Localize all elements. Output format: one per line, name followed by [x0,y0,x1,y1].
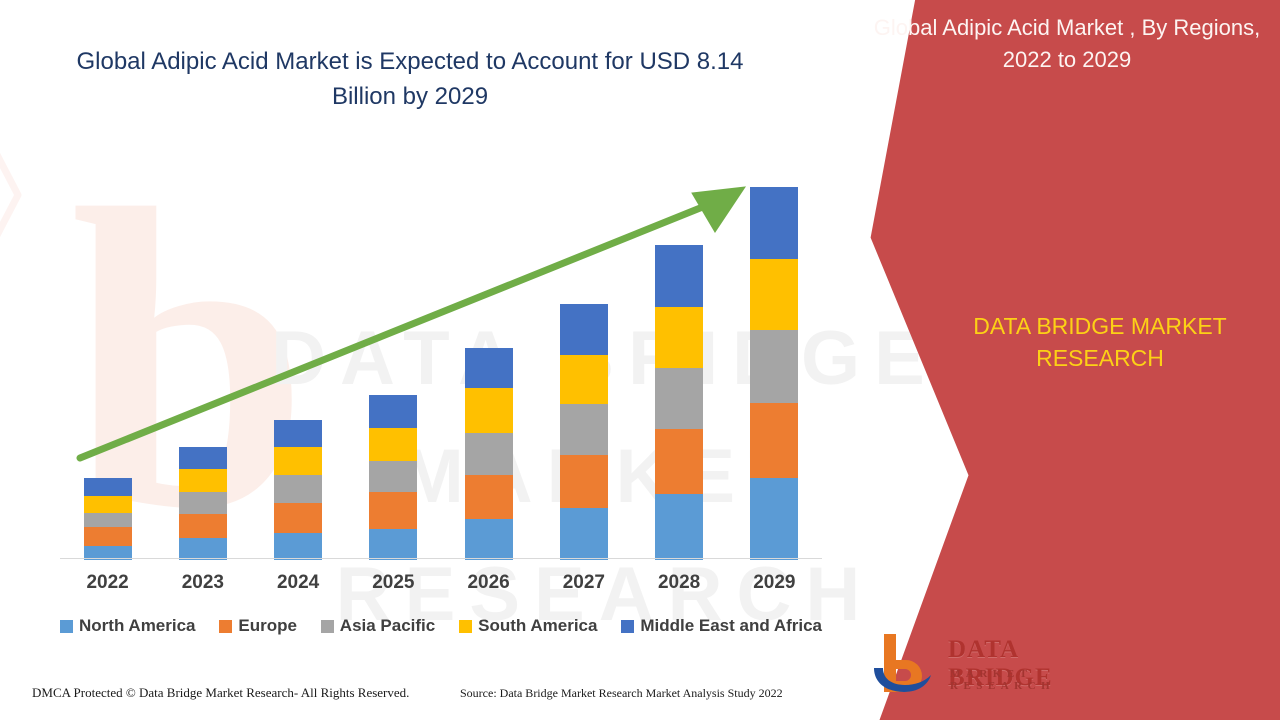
legend-label: South America [478,616,597,636]
legend-label: Europe [238,616,297,636]
bar-segment [750,187,798,259]
bar-segment [84,513,132,527]
bar-segment [655,429,703,494]
bar-column [274,420,322,560]
legend-label: Asia Pacific [340,616,435,636]
bar-segment [274,420,322,447]
legend-label: North America [79,616,196,636]
x-axis-label: 2023 [155,572,251,594]
x-axis-label: 2028 [631,572,727,594]
legend-item-south-america[interactable]: South America [459,616,597,636]
bar-segment [179,492,227,514]
bar-segment [465,519,513,560]
bar-segment [179,469,227,493]
bar-segment [655,307,703,368]
x-axis-label: 2024 [250,572,346,594]
bar-segment [560,304,608,356]
bar-segment [84,496,132,513]
bar-segment [750,403,798,479]
legend-swatch-icon [459,620,472,633]
chart-panel: b DATA BRIDGE MARKET RESEARCH Global Adi… [0,0,975,720]
bar-segment [274,503,322,533]
bar-column [560,303,608,560]
bar-segment [465,433,513,475]
legend-item-asia-pacific[interactable]: Asia Pacific [321,616,435,636]
bar-segment [655,494,703,560]
bar-segment [369,461,417,492]
bar-segment [465,348,513,389]
footer-copyright: DMCA Protected © Data Bridge Market Rese… [32,685,409,701]
bar-segment [655,245,703,306]
bar-column [655,245,703,560]
legend-swatch-icon [321,620,334,633]
x-axis-labels: 20222023202420252026202720282029 [60,572,822,602]
bar-segment [465,388,513,432]
bar-segment [179,514,227,538]
bar-segment [465,475,513,519]
legend-swatch-icon [60,620,73,633]
bar-segment [84,527,132,546]
chart-legend: North AmericaEuropeAsia PacificSouth Ame… [60,616,822,636]
legend-swatch-icon [219,620,232,633]
legend-item-europe[interactable]: Europe [219,616,297,636]
x-axis-label: 2022 [60,572,156,594]
bar-segment [750,259,798,330]
bar-segment [274,533,322,560]
legend-item-middle-east-and-africa[interactable]: Middle East and Africa [621,616,822,636]
infographic-root: b DATA BRIDGE MARKET RESEARCH Global Adi… [0,0,1280,720]
page-title: Global Adipic Acid Market is Expected to… [60,45,760,115]
bar-column [750,187,798,560]
bar-segment [560,355,608,404]
legend-label: Middle East and Africa [640,616,822,636]
x-axis-label: 2027 [536,572,632,594]
x-axis-label: 2029 [726,572,822,594]
bar-segment [179,447,227,469]
chart-plot-area [60,160,822,560]
x-axis-label: 2025 [345,572,441,594]
bar-column [84,478,132,560]
bar-segment [274,475,322,503]
bar-segment [369,395,417,428]
bar-column [179,447,227,560]
legend-swatch-icon [621,620,634,633]
bar-segment [369,428,417,461]
bar-segment [274,447,322,475]
bar-column [465,348,513,560]
legend-item-north-america[interactable]: North America [60,616,196,636]
bar-segment [750,478,798,560]
bar-column [369,395,417,560]
bar-segment [560,455,608,509]
bar-segment [560,508,608,560]
bar-segment [560,404,608,454]
x-axis-label: 2026 [441,572,537,594]
bar-segment [179,538,227,560]
bar-segment [750,330,798,402]
bar-segment [84,478,132,495]
footer-source: Source: Data Bridge Market Research Mark… [460,686,783,701]
bar-segment [369,492,417,528]
bar-segment [655,368,703,429]
bar-segment [369,529,417,560]
x-axis-line [60,558,822,559]
